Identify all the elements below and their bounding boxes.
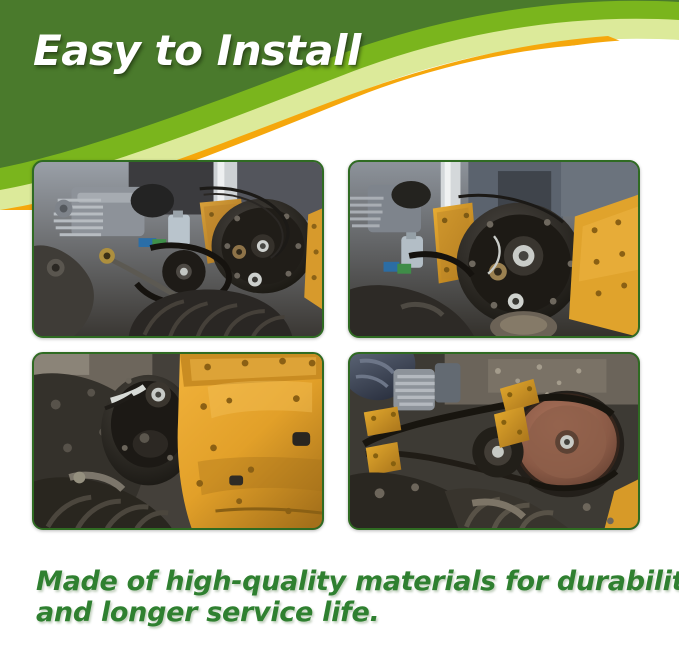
tagline-line-2: and longer service life.: [36, 597, 676, 628]
photo-auger-housing-gearbox: [32, 352, 324, 530]
photo-scene: [34, 354, 322, 528]
photo-scene: [350, 162, 638, 336]
tagline-line-1: Made of high-quality materials for durab…: [36, 566, 676, 597]
product-feature-banner: Easy to Install: [0, 0, 679, 645]
photo-engine-belt-drive-wide: [32, 160, 324, 338]
page-title: Easy to Install: [33, 26, 361, 75]
feature-photo-grid: [32, 160, 640, 530]
photo-pulley-belt-hand: [348, 352, 640, 530]
photo-scene: [34, 162, 322, 336]
photo-scene: [350, 354, 638, 528]
photo-friction-disc-closeup: [348, 160, 640, 338]
tagline: Made of high-quality materials for durab…: [36, 566, 676, 628]
